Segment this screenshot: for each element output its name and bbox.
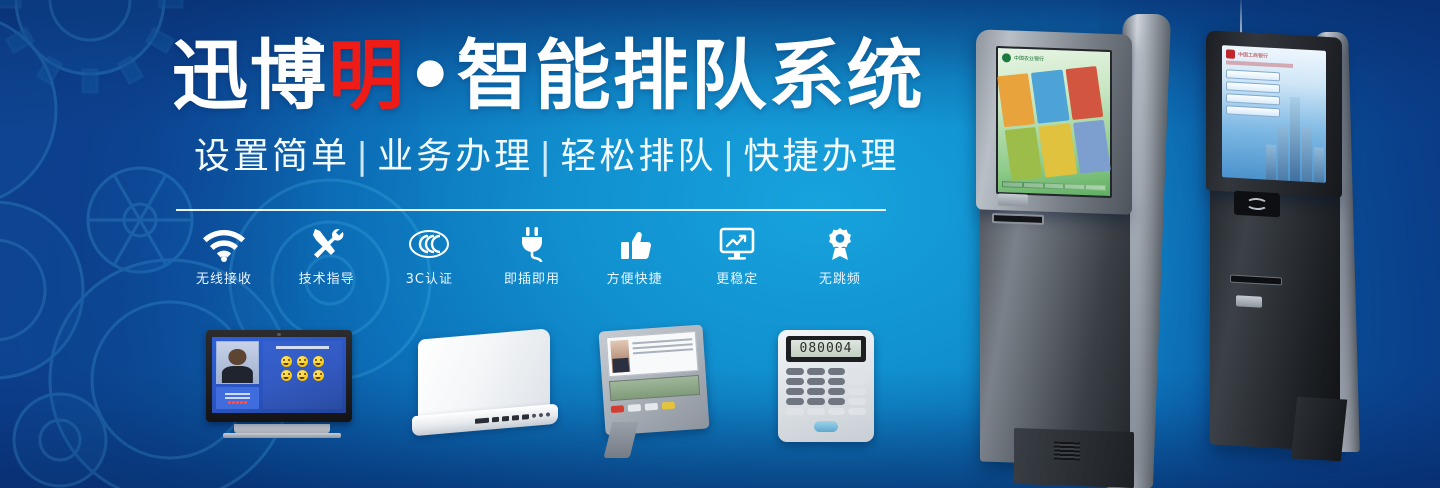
face-unsatisfied-icon	[281, 370, 292, 381]
kiosk-abc-body	[980, 199, 1130, 466]
keypad-body: 080004	[778, 330, 874, 442]
keypad-call-next-button[interactable]	[814, 421, 838, 432]
port-usb-3	[512, 415, 519, 421]
keypad-button-grid[interactable]	[786, 368, 866, 415]
keypad-key-5[interactable]	[807, 378, 825, 385]
subtitle: 设置简单|业务办理|轻松排队|快捷办理	[194, 136, 892, 177]
kiosk-icbc-brand-badge	[1236, 295, 1262, 307]
kiosk-abc-tile-6[interactable]	[1073, 120, 1111, 174]
evaluator-button-satisfied[interactable]	[645, 403, 658, 411]
product-desktop-evaluator[interactable]	[602, 328, 718, 440]
feature-item-convenient: 方便快捷	[587, 226, 683, 287]
feature-item-ccc: 3C认证	[381, 226, 477, 287]
keypad-key-c[interactable]	[848, 388, 866, 395]
kiosk-icbc-head: 中国工商银行	[1206, 30, 1342, 198]
feature-label-tech-support: 技术指导	[299, 268, 355, 287]
monitor-base	[223, 433, 341, 438]
monitor-screen-left-panel	[216, 341, 259, 409]
subtitle-item-2: 轻松排队	[560, 136, 716, 177]
feature-item-tech-support: 技术指导	[279, 226, 375, 287]
evaluator-button-confirm[interactable]	[662, 402, 675, 410]
main-title-bullet: •	[406, 31, 457, 120]
subtitle-separator-0: |	[350, 136, 377, 177]
kiosk-abc-tile-5[interactable]	[1039, 123, 1077, 177]
kiosk-abc-menu-tiles[interactable]	[995, 62, 1114, 185]
kiosk-icbc-menu-item-1[interactable]	[1226, 69, 1280, 81]
keypad-key-f4[interactable]	[848, 408, 866, 415]
staff-photo	[216, 341, 259, 384]
evaluator-body	[598, 324, 709, 435]
kiosk-icbc-bank-name: 中国工商银行	[1238, 51, 1268, 60]
keypad-key-d[interactable]	[848, 398, 866, 405]
feature-list: 无线接收 技术指导 3C认证 即插即用 方便快捷	[176, 226, 888, 287]
subtitle-separator-1: |	[533, 136, 560, 177]
evaluator-button-neutral[interactable]	[628, 404, 641, 412]
ccc-icon	[407, 226, 451, 262]
evaluator-card-text	[632, 335, 694, 371]
thumbs-up-icon	[613, 226, 657, 262]
port-audio-1	[532, 414, 536, 418]
main-title-part1: 迅博	[172, 31, 328, 120]
headline-block: 迅博明•智能排队系统 设置简单|业务办理|轻松排队|快捷办理	[172, 38, 892, 177]
kiosk-icbc-card-reader[interactable]	[1234, 191, 1280, 218]
rating-stars	[228, 401, 247, 404]
port-power	[546, 412, 550, 416]
main-title-accent-char: 明	[328, 31, 406, 120]
monitor-screen-right-panel	[263, 341, 342, 409]
keypad-key-8[interactable]	[807, 388, 825, 395]
monitor-chart-icon	[715, 226, 759, 262]
tools-icon	[305, 226, 349, 262]
horizontal-divider	[176, 209, 886, 211]
kiosk-abc-tile-3[interactable]	[1065, 66, 1103, 120]
award-icon	[818, 226, 862, 262]
abc-logo-icon	[1002, 53, 1011, 62]
face-neutral-icon	[313, 356, 324, 367]
keypad-key-3[interactable]	[828, 368, 846, 375]
kiosk-icbc-menu-item-3[interactable]	[1226, 93, 1280, 105]
feature-label-no-hopping: 无跳频	[819, 268, 861, 287]
nfc-wave-icon	[1246, 197, 1268, 210]
port-serial	[475, 417, 489, 423]
face-very-satisfied-icon	[281, 356, 292, 367]
feature-label-convenient: 方便快捷	[607, 268, 663, 287]
keypad-key-9[interactable]	[828, 388, 846, 395]
subtitle-separator-2: |	[716, 136, 743, 177]
keypad-key-0[interactable]	[807, 398, 825, 405]
monitor-bezel	[206, 330, 352, 422]
monitor-stand	[234, 424, 330, 433]
keypad-lcd-value: 080004	[791, 340, 861, 357]
port-usb-2	[502, 415, 509, 421]
evaluator-lcd-display	[609, 375, 700, 401]
keypad-key-1[interactable]	[786, 368, 804, 375]
evaluator-button-row[interactable]	[611, 400, 701, 413]
icbc-logo-icon	[1226, 49, 1235, 59]
feature-label-ccc: 3C认证	[406, 268, 453, 287]
evaluator-button-unsatisfied[interactable]	[611, 405, 624, 413]
kiosk-icbc-base-tray	[1291, 397, 1348, 461]
plug-icon	[510, 226, 554, 262]
feature-item-no-hopping: 无跳频	[792, 226, 888, 287]
feature-item-stable: 更稳定	[689, 226, 785, 287]
kiosk-abc-tile-2[interactable]	[1031, 70, 1069, 124]
main-title: 迅博明•智能排队系统	[172, 38, 892, 114]
product-queue-host-unit[interactable]	[412, 334, 562, 446]
evaluator-staff-photo	[610, 340, 630, 373]
main-title-part2: 智能排队系统	[457, 31, 925, 120]
keypad-key-4[interactable]	[786, 378, 804, 385]
subtitle-item-0: 设置简单	[194, 136, 350, 177]
kiosk-abc-head: 中国农业银行	[976, 29, 1132, 214]
keypad-lcd-frame: 080004	[786, 336, 866, 362]
keypad-key-hash[interactable]	[828, 398, 846, 405]
product-ticket-kiosk-icbc[interactable]: 中国工商银行	[1196, 0, 1376, 488]
satisfaction-face-grid	[281, 356, 324, 381]
keypad-key-b[interactable]	[848, 378, 866, 385]
face-poor-icon	[297, 370, 308, 381]
kiosk-abc-vent	[1054, 442, 1080, 461]
keypad-key-f2[interactable]	[807, 408, 825, 415]
keypad-key-star[interactable]	[786, 398, 804, 405]
feature-item-plug-and-play: 即插即用	[484, 226, 580, 287]
port-usb-1	[492, 416, 499, 422]
evaluation-prompt	[276, 346, 328, 349]
subtitle-item-3: 快捷办理	[743, 136, 899, 177]
keypad-key-7[interactable]	[786, 388, 804, 395]
keypad-key-6[interactable]	[828, 378, 846, 385]
feature-label-wireless: 无线接收	[196, 268, 252, 287]
product-ticket-kiosk-abc[interactable]: 中国农业银行	[958, 14, 1168, 488]
subtitle-item-1: 业务办理	[377, 136, 533, 177]
feature-label-stable: 更稳定	[716, 268, 758, 287]
kiosk-abc-tile-1[interactable]	[997, 73, 1035, 127]
kiosk-abc-tile-4[interactable]	[1005, 127, 1043, 181]
product-evaluation-monitor[interactable]	[206, 330, 358, 448]
kiosk-icbc-menu-item-4[interactable]	[1226, 105, 1280, 117]
kiosk-abc-ticket-slot[interactable]	[992, 213, 1044, 225]
promo-banner: 迅博明•智能排队系统 设置简单|业务办理|轻松排队|快捷办理 无线接收 技术指导…	[0, 0, 1440, 488]
staff-name-plate	[216, 387, 259, 409]
port-audio-2	[539, 413, 543, 417]
kiosk-abc-screen[interactable]: 中国农业银行	[996, 46, 1112, 198]
monitor-screen	[212, 337, 346, 413]
kiosk-abc-brand-badge	[998, 193, 1028, 206]
evaluator-id-card	[606, 331, 699, 377]
face-satisfied-icon	[297, 356, 308, 367]
product-teller-keypad[interactable]: 080004	[778, 330, 882, 446]
keypad-key-f3[interactable]	[828, 408, 846, 415]
kiosk-icbc-screen[interactable]: 中国工商银行	[1222, 45, 1326, 183]
feature-label-plug-and-play: 即插即用	[504, 268, 560, 287]
keypad-key-f1[interactable]	[786, 408, 804, 415]
feature-item-wireless: 无线接收	[176, 226, 272, 287]
port-ethernet	[522, 414, 529, 420]
keypad-key-a[interactable]	[848, 368, 866, 375]
kiosk-icbc-menu-item-2[interactable]	[1226, 81, 1280, 93]
monitor-camera-icon	[277, 333, 281, 336]
kiosk-icbc-menu-list[interactable]	[1226, 69, 1280, 117]
wifi-icon	[202, 226, 246, 262]
face-very-poor-icon	[313, 370, 324, 381]
keypad-key-2[interactable]	[807, 368, 825, 375]
